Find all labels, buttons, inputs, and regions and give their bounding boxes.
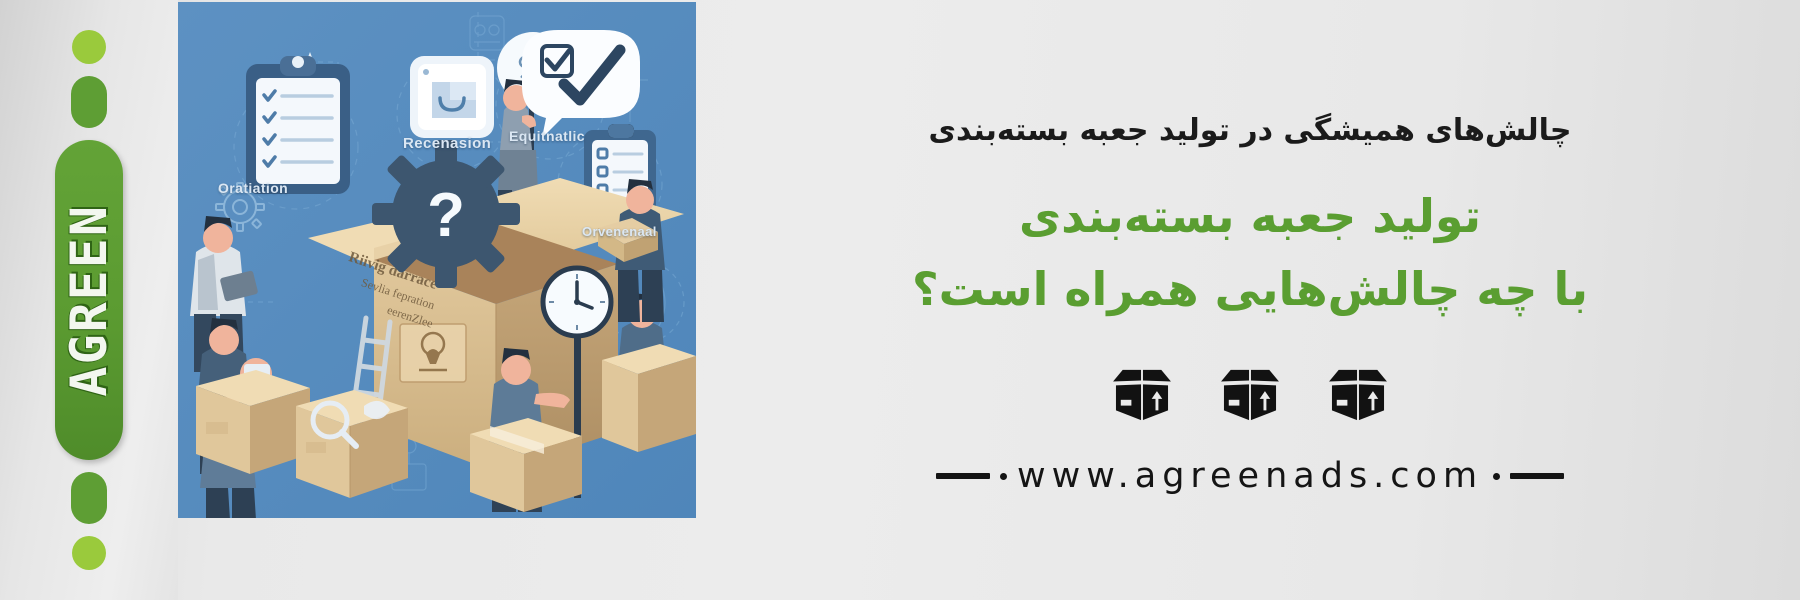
illustration-artwork: Riivig darrace Sevlia fepration eerenZle… (178, 2, 696, 518)
box-icon-row (1111, 368, 1389, 422)
small-box-right (602, 344, 696, 452)
url-rule-left (936, 473, 990, 479)
ui-card-icon (410, 56, 494, 138)
url-dot-right (1493, 473, 1500, 480)
packaging-illustration: Riivig darrace Sevlia fepration eerenZle… (178, 2, 696, 518)
clipboard-checklist-icon (246, 56, 350, 194)
illustration-label-3: Orvenenaal (582, 224, 657, 239)
illustration-label-0: Oratiation (218, 180, 288, 196)
headline-line-1: تولید جعبه بسته‌بندی (1019, 183, 1481, 250)
open-box-icon (1111, 368, 1173, 422)
url-rule-right (1510, 473, 1564, 479)
illustration-label-2: Equitnatlic (509, 128, 585, 144)
brand-logo-text: AGREEN (64, 204, 114, 397)
promo-banner: AGREEN (0, 0, 1800, 600)
brand-logo[interactable]: AGREEN (55, 140, 123, 460)
open-box-icon (1327, 368, 1389, 422)
url-dot-left (1000, 473, 1007, 480)
rail-dot-bottom-medium (71, 472, 107, 524)
content-column: چالش‌های همیشگی در تولید جعبه بسته‌بندی … (700, 0, 1800, 600)
logo-rail: AGREEN (0, 0, 178, 600)
gear-question-mark: ? (427, 181, 465, 250)
rail-dot-top-small (72, 30, 106, 64)
website-url[interactable]: www.agreenads.com (1017, 456, 1483, 496)
website-row[interactable]: www.agreenads.com (936, 456, 1564, 496)
gear-question-icon: ? (372, 140, 520, 288)
headline-line-2: با چه چالش‌هایی همراه است؟ (912, 256, 1588, 323)
rail-dot-bottom-small (72, 536, 106, 570)
open-box-icon (1219, 368, 1281, 422)
illustration-label-1: Recenasion (403, 135, 491, 152)
small-box-taped (470, 418, 582, 512)
small-box-left (196, 370, 310, 474)
kicker-text: چالش‌های همیشگی در تولید جعبه بسته‌بندی (929, 112, 1572, 150)
rail-dot-top-medium (71, 76, 107, 128)
